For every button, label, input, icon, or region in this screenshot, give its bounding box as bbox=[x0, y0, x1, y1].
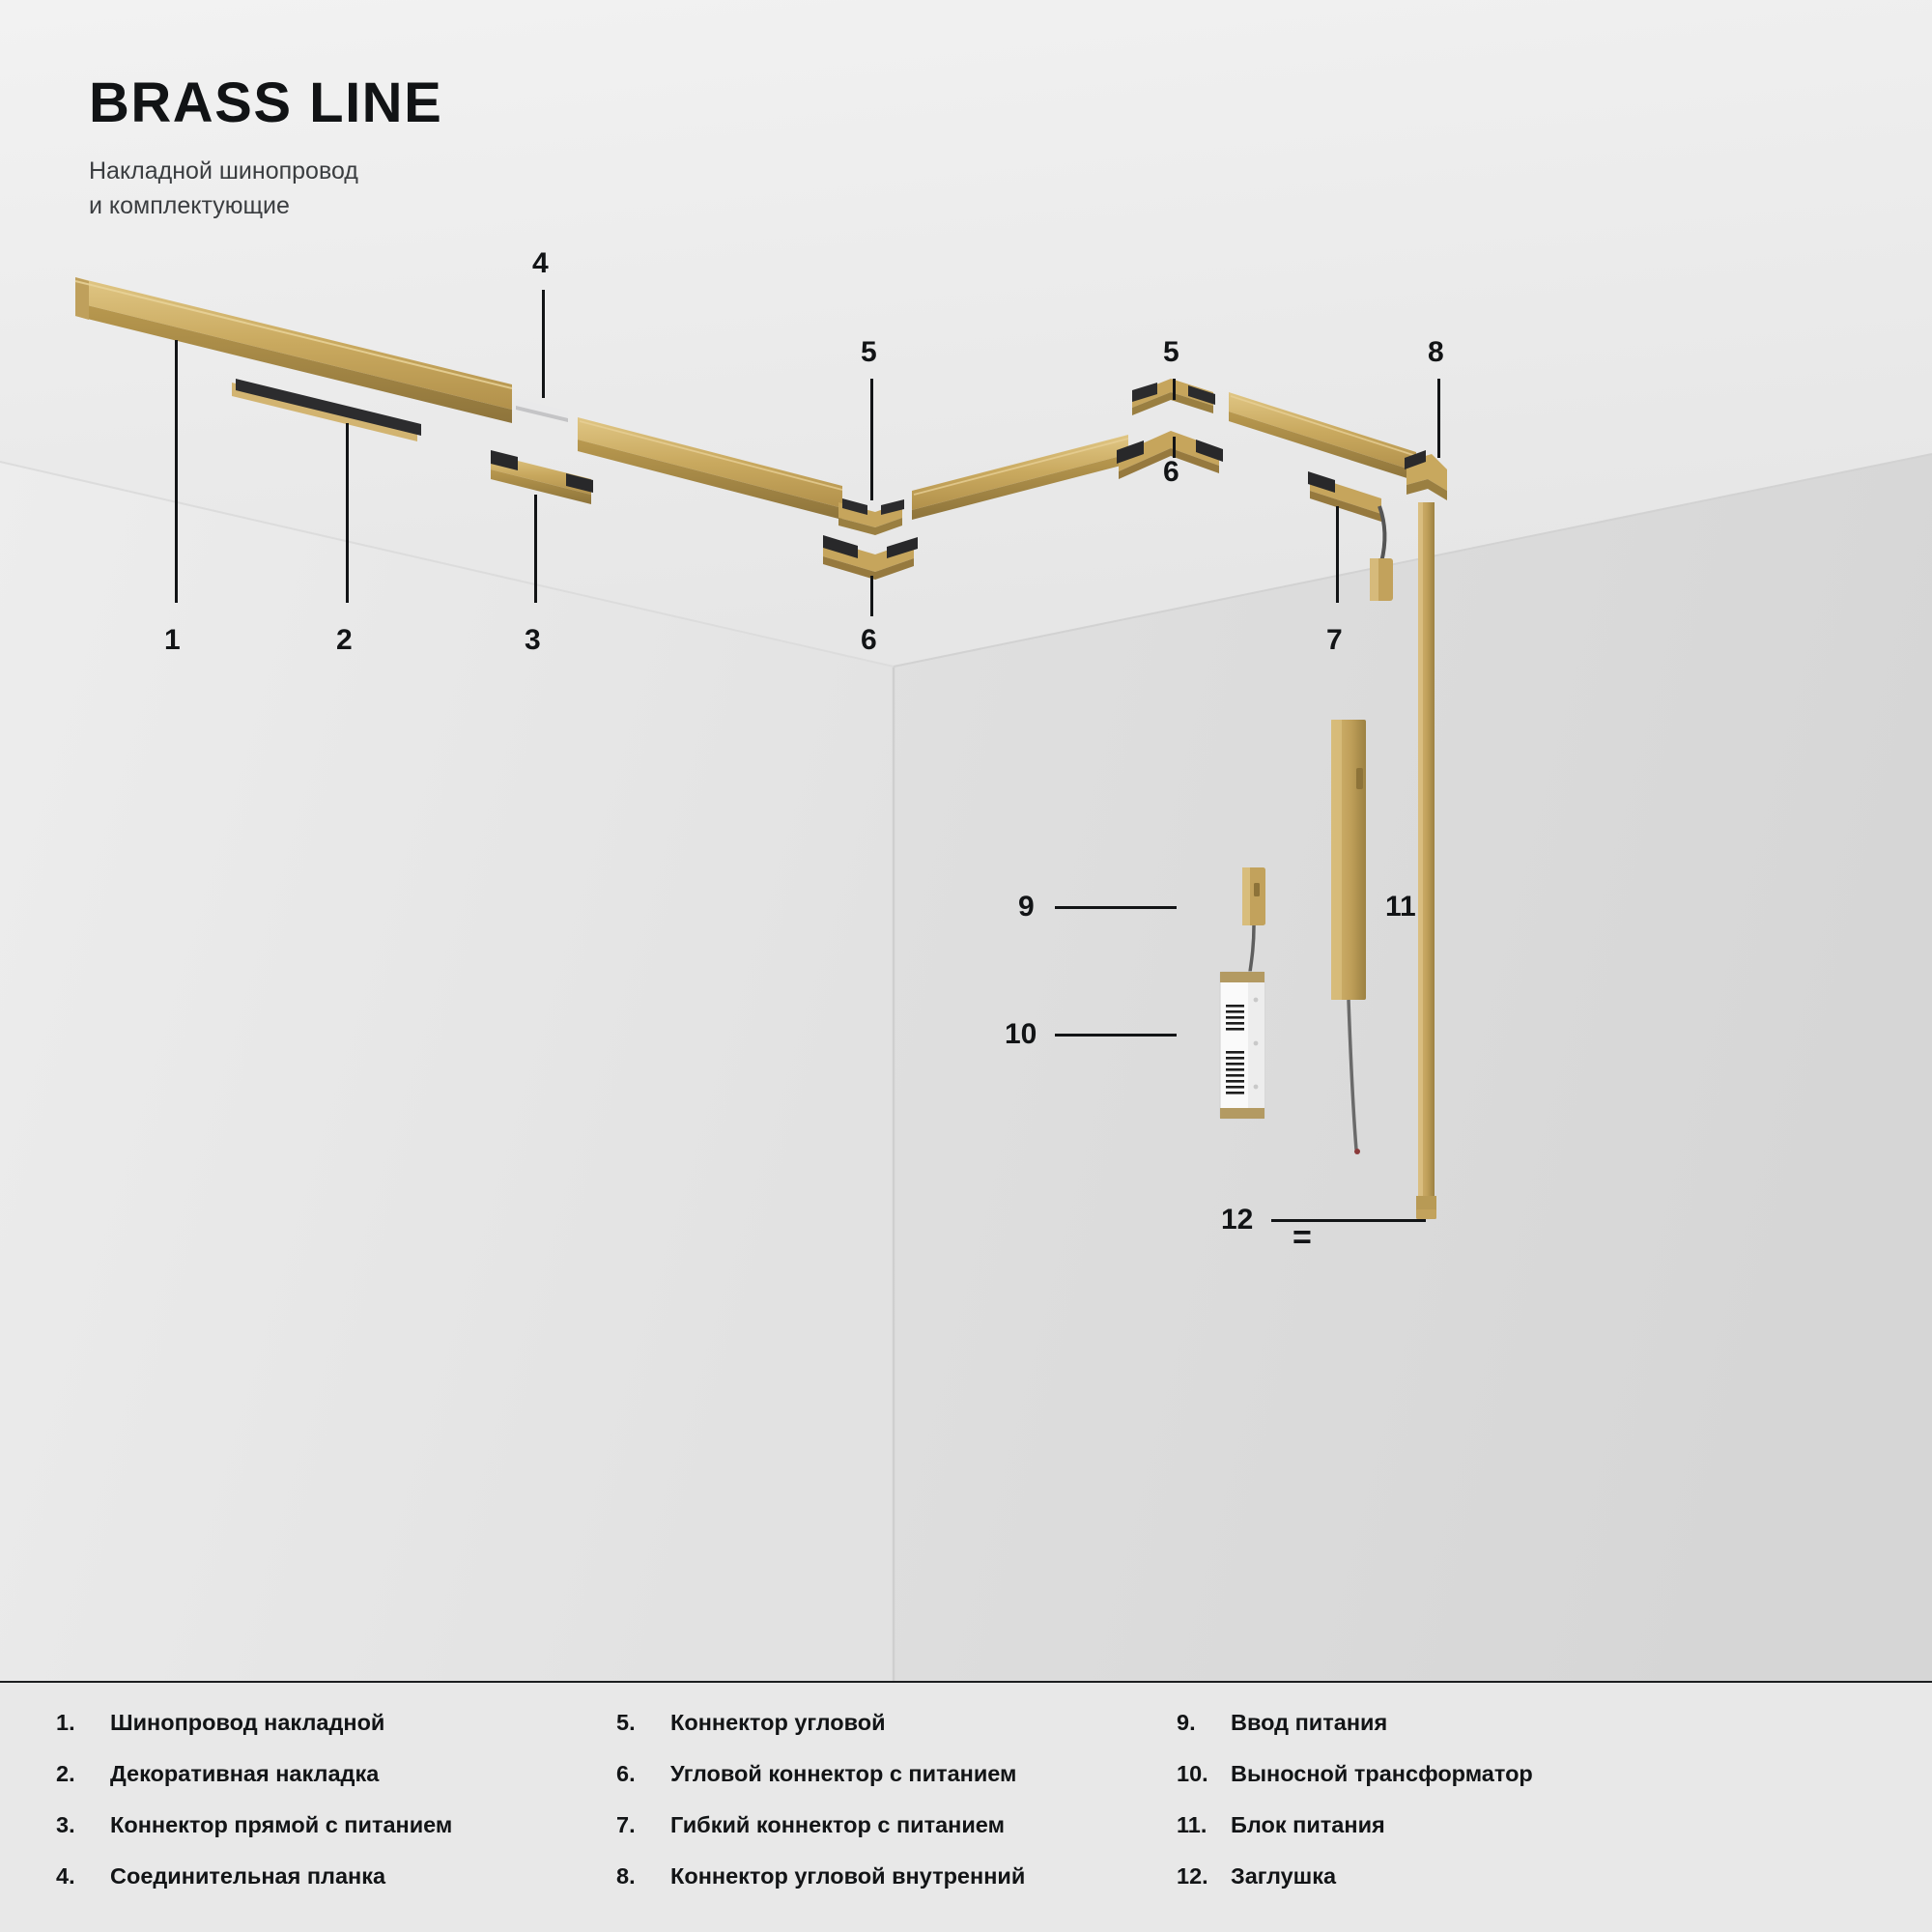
legend-item-12: 12. Заглушка bbox=[1177, 1863, 1718, 1915]
leader-line-10 bbox=[1055, 1034, 1177, 1037]
legend-item-8: 8. Коннектор угловой внутренний bbox=[616, 1863, 1134, 1915]
right-wall-surface bbox=[894, 454, 1932, 1681]
callout-2-label: 2 bbox=[336, 626, 353, 655]
legend-item-8-number: 8. bbox=[616, 1863, 670, 1889]
callout-3-label: 3 bbox=[525, 626, 541, 655]
legend-item-10: 10. Выносной трансформатор bbox=[1177, 1761, 1718, 1812]
leader-line-9 bbox=[1055, 906, 1177, 909]
legend-item-11: 11. Блок питания bbox=[1177, 1812, 1718, 1863]
room-scene bbox=[0, 0, 1932, 1681]
leader-line-5b bbox=[1173, 379, 1176, 400]
legend-item-10-label: Выносной трансформатор bbox=[1231, 1761, 1533, 1787]
legend-item-6: 6. Угловой коннектор с питанием bbox=[616, 1761, 1134, 1812]
legend-item-5-label: Коннектор угловой bbox=[670, 1710, 886, 1736]
legend-item-7-number: 7. bbox=[616, 1812, 670, 1838]
legend-item-12-number: 12. bbox=[1177, 1863, 1231, 1889]
legend-item-5-number: 5. bbox=[616, 1710, 670, 1736]
leader-line-5a bbox=[870, 379, 873, 500]
header-block: BRASS LINE Накладной шинопровод и компле… bbox=[89, 75, 442, 223]
page-subtitle: Накладной шинопровод и комплектующие bbox=[89, 155, 442, 223]
callout-6a-label: 6 bbox=[861, 626, 877, 655]
callout-5a-label: 5 bbox=[861, 338, 877, 367]
leader-line-4 bbox=[542, 290, 545, 398]
legend-item-9-label: Ввод питания bbox=[1231, 1710, 1387, 1736]
legend-grid: 1. Шинопровод накладной 2. Декоративная … bbox=[56, 1710, 1891, 1915]
end-cap bbox=[1416, 1209, 1436, 1219]
legend-item-11-label: Блок питания bbox=[1231, 1812, 1385, 1838]
legend-item-12-label: Заглушка bbox=[1231, 1863, 1336, 1889]
legend-item-6-label: Угловой коннектор с питанием bbox=[670, 1761, 1016, 1787]
legend-item-4-number: 4. bbox=[56, 1863, 110, 1889]
callout-11-label: 11 bbox=[1385, 893, 1416, 922]
legend-item-2: 2. Декоративная накладка bbox=[56, 1761, 574, 1812]
legend-item-9: 9. Ввод питания bbox=[1177, 1710, 1718, 1761]
legend-item-6-number: 6. bbox=[616, 1761, 670, 1787]
legend-item-5: 5. Коннектор угловой bbox=[616, 1710, 1134, 1761]
legend-item-1: 1. Шинопровод накладной bbox=[56, 1710, 574, 1761]
legend-item-9-number: 9. bbox=[1177, 1710, 1231, 1736]
leader-line-1 bbox=[175, 340, 178, 603]
legend-item-4-label: Соединительная планка bbox=[110, 1863, 385, 1889]
callout-5b-label: 5 bbox=[1163, 338, 1179, 367]
callout-12-label: 12 bbox=[1221, 1206, 1253, 1235]
legend-column-3: 9. Ввод питания 10. Выносной трансформат… bbox=[1177, 1710, 1718, 1915]
leader-line-6b bbox=[1173, 437, 1176, 458]
leader-line-8 bbox=[1437, 379, 1440, 458]
legend-item-1-number: 1. bbox=[56, 1710, 110, 1736]
legend-item-3-label: Коннектор прямой с питанием bbox=[110, 1812, 452, 1838]
legend-item-10-number: 10. bbox=[1177, 1761, 1231, 1787]
leader-line-3 bbox=[534, 495, 537, 603]
legend-item-11-number: 11. bbox=[1177, 1812, 1231, 1838]
callout-6b-label: 6 bbox=[1163, 458, 1179, 487]
callout-9-label: 9 bbox=[1018, 893, 1035, 922]
legend-column-2: 5. Коннектор угловой 6. Угловой коннекто… bbox=[616, 1710, 1134, 1915]
leader-line-2 bbox=[346, 423, 349, 603]
legend-panel: 1. Шинопровод накладной 2. Декоративная … bbox=[0, 1681, 1932, 1932]
product-diagram-page: BRASS LINE Накладной шинопровод и компле… bbox=[0, 0, 1932, 1932]
legend-item-7-label: Гибкий коннектор с питанием bbox=[670, 1812, 1005, 1838]
vertical-brass-rail bbox=[1416, 502, 1436, 1217]
callout-8-label: 8 bbox=[1428, 338, 1444, 367]
legend-column-1: 1. Шинопровод накладной 2. Декоративная … bbox=[56, 1710, 574, 1915]
remote-transformer bbox=[1220, 972, 1264, 1119]
page-title: BRASS LINE bbox=[89, 75, 442, 131]
legend-item-1-label: Шинопровод накладной bbox=[110, 1710, 384, 1736]
legend-item-7: 7. Гибкий коннектор с питанием bbox=[616, 1812, 1134, 1863]
legend-item-3: 3. Коннектор прямой с питанием bbox=[56, 1812, 574, 1863]
legend-item-2-label: Декоративная накладка bbox=[110, 1761, 379, 1787]
legend-item-3-number: 3. bbox=[56, 1812, 110, 1838]
legend-item-8-label: Коннектор угловой внутренний bbox=[670, 1863, 1025, 1889]
equals-symbol: = bbox=[1293, 1219, 1312, 1257]
callout-7-label: 7 bbox=[1326, 626, 1343, 655]
leader-line-6a bbox=[870, 576, 873, 616]
legend-item-4: 4. Соединительная планка bbox=[56, 1863, 574, 1915]
left-wall-surface bbox=[0, 462, 894, 1681]
leader-line-7 bbox=[1336, 506, 1339, 603]
callout-4-label: 4 bbox=[532, 249, 549, 278]
callout-10-label: 10 bbox=[1005, 1020, 1037, 1049]
callout-1-label: 1 bbox=[164, 626, 181, 655]
legend-item-2-number: 2. bbox=[56, 1761, 110, 1787]
